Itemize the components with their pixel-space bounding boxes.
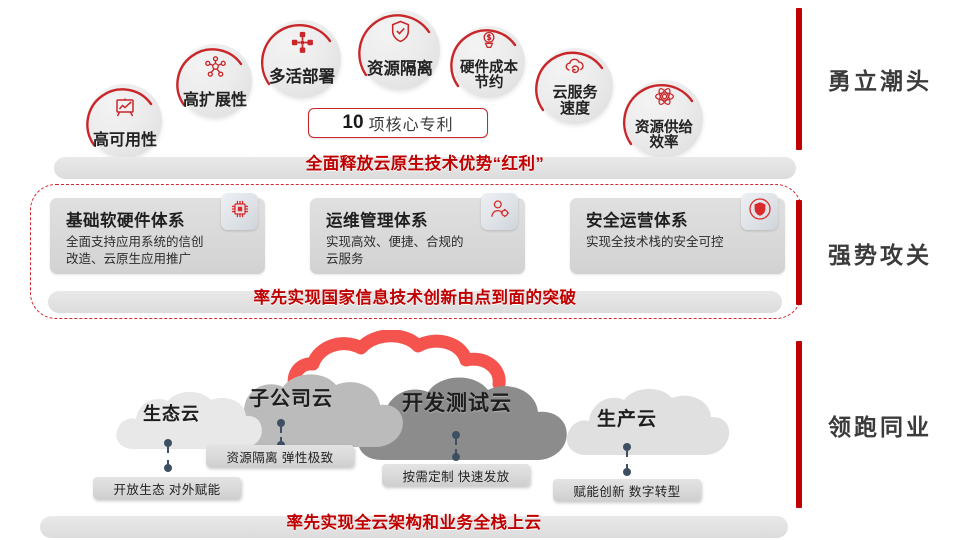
- shield-icon-tile: [741, 193, 778, 230]
- side-label-勇立潮头: 勇立潮头: [796, 8, 932, 150]
- side-label-text: 领跑同业: [828, 408, 932, 442]
- cross-nodes-icon: [263, 30, 341, 55]
- slide-canvas: 高可用性 高扩展性: [0, 0, 960, 540]
- callout-资源隔离弹性极致[interactable]: 资源隔离 弹性极致: [206, 445, 354, 467]
- user-gear-icon-tile: [481, 193, 518, 230]
- connector-dot-top: [623, 443, 631, 451]
- bubble-高扩展性[interactable]: 高扩展性: [178, 44, 252, 118]
- side-label-text: 勇立潮头: [828, 62, 932, 96]
- card-desc: 实现全技术栈的安全可控: [586, 234, 724, 251]
- money-bulb-icon: [453, 30, 525, 52]
- side-label-text: 强势攻关: [828, 236, 932, 270]
- bubble-label: 云服务速度: [552, 85, 597, 117]
- bubble-label: 高扩展性: [183, 92, 247, 109]
- shield-icon: [748, 197, 772, 226]
- side-label-强势攻关: 强势攻关: [796, 200, 932, 305]
- network-nodes-icon: [178, 55, 252, 80]
- card-title: 安全运营体系: [586, 207, 688, 231]
- chart-board-icon: [88, 96, 162, 120]
- card-desc: 全面支持应用系统的信创 改造、云原生应用推广: [66, 234, 204, 269]
- bubble-label: 多活部署: [269, 69, 335, 87]
- section3-banner-text: 率先实现全云架构和业务全栈上云: [40, 509, 788, 533]
- cloud-label: 开发测试云: [402, 387, 512, 417]
- bubble-多活部署[interactable]: 多活部署: [263, 20, 341, 98]
- chip-icon-tile: [221, 193, 258, 230]
- atom-icon: [625, 85, 703, 108]
- chip-icon: [229, 198, 251, 225]
- callout-按需定制快速发放[interactable]: 按需定制 快速发放: [382, 464, 530, 486]
- cloud-label: 生产云: [597, 404, 657, 431]
- bubble-arc: [258, 15, 346, 103]
- cloud-refresh-icon: [537, 54, 613, 78]
- bubble-arc: [173, 39, 257, 123]
- bubble-资源供给效率[interactable]: 资源供给效率: [625, 80, 703, 158]
- cloud-label: 生态云: [143, 400, 200, 426]
- bubble-label: 资源隔离: [367, 61, 433, 79]
- bubble-云服务速度[interactable]: 云服务速度: [537, 48, 613, 124]
- callout-赋能创新数字转型[interactable]: 赋能创新 数字转型: [553, 479, 701, 501]
- bubble-硬件成本节约[interactable]: 硬件成本节约: [453, 26, 525, 98]
- side-label-领跑同业: 领跑同业: [796, 341, 932, 508]
- connector-dot-top: [164, 439, 172, 447]
- side-accent-bar: [796, 8, 802, 150]
- section1-banner-text: 全面释放云原生技术优势“红利”: [54, 150, 796, 174]
- side-accent-bar: [796, 200, 802, 305]
- card-desc: 实现高效、便捷、合规的 云服务: [326, 234, 464, 269]
- user-gear-icon: [489, 198, 511, 225]
- card-title: 基础软硬件体系: [66, 207, 185, 231]
- bubble-资源隔离[interactable]: 资源隔离: [360, 10, 440, 90]
- patent-count: 10: [342, 112, 363, 134]
- bubble-label: 硬件成本节约: [460, 61, 518, 92]
- shield-check-icon: [360, 19, 440, 44]
- card-title: 运维管理体系: [326, 207, 428, 231]
- section2-banner-text: 率先实现国家信息技术创新由点到面的突破: [48, 284, 782, 308]
- callout-开放生态对外赋能[interactable]: 开放生态 对外赋能: [93, 477, 241, 499]
- bubble-高可用性[interactable]: 高可用性: [88, 84, 162, 158]
- connector-dot-bottom: [164, 464, 172, 472]
- patent-label: 项核心专利: [369, 111, 454, 135]
- connector-dot-top: [277, 419, 285, 427]
- bubble-label: 资源供给效率: [635, 121, 693, 152]
- connector-dot-top: [452, 431, 460, 439]
- connector-dot-bottom: [452, 453, 460, 461]
- bubble-label: 高可用性: [93, 132, 157, 149]
- patent-badge: 10 项核心专利: [308, 108, 488, 138]
- connector-dot-bottom: [623, 468, 631, 476]
- side-accent-bar: [796, 341, 802, 508]
